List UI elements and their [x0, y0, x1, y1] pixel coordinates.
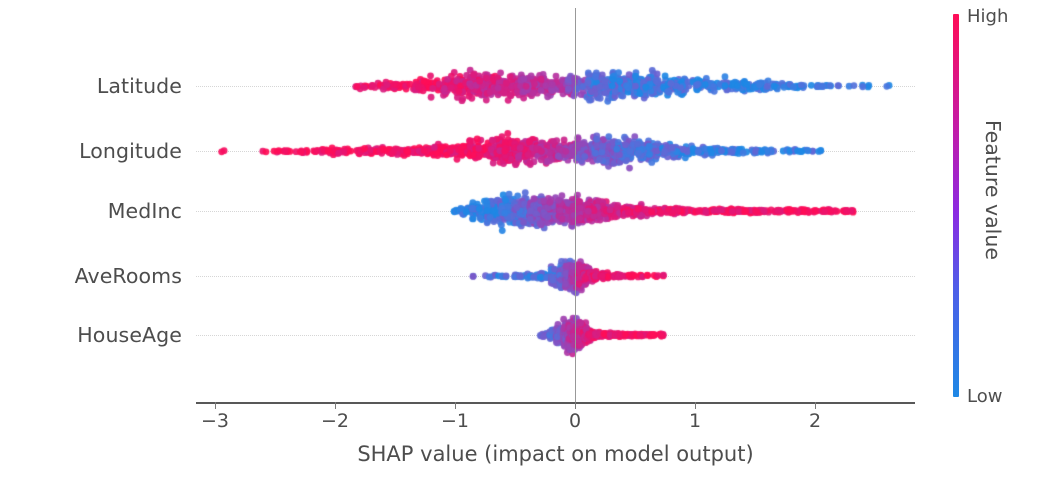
x-tick-1: [335, 402, 336, 409]
zero-reference-line: [575, 8, 576, 402]
x-tick-label-1: −2: [321, 410, 349, 432]
x-tick-0: [215, 402, 216, 409]
beeswarm-scatter-canvas: [196, 8, 915, 402]
y-axis-label-houseage: HouseAge: [77, 323, 182, 347]
y-axis-label-medinc: MedInc: [108, 199, 182, 223]
x-tick-4: [695, 402, 696, 409]
colorbar-high-label: High: [967, 6, 1008, 27]
shap-beeswarm-figure: LatitudeLongitudeMedIncAveRoomsHouseAge …: [0, 0, 1052, 484]
x-tick-label-2: −1: [441, 410, 469, 432]
x-tick-label-5: 2: [809, 410, 821, 432]
colorbar-legend: High Low Feature value: [945, 0, 1052, 484]
plot-area: [196, 8, 915, 402]
x-tick-5: [815, 402, 816, 409]
colorbar-gradient-bar: [953, 14, 959, 397]
y-axis-label-group: LatitudeLongitudeMedIncAveRoomsHouseAge: [0, 0, 182, 484]
colorbar-low-label: Low: [967, 386, 1002, 407]
x-tick-label-4: 1: [689, 410, 701, 432]
y-axis-label-longitude: Longitude: [79, 139, 182, 163]
x-tick-label-3: 0: [569, 410, 581, 432]
x-tick-2: [455, 402, 456, 409]
x-tick-3: [575, 402, 576, 409]
y-axis-label-averooms: AveRooms: [75, 264, 182, 288]
x-tick-label-0: −3: [201, 410, 229, 432]
colorbar-title: Feature value: [981, 120, 1005, 300]
x-axis-title: SHAP value (impact on model output): [196, 442, 915, 466]
y-axis-label-latitude: Latitude: [97, 74, 182, 98]
x-axis-spine: [196, 402, 915, 404]
